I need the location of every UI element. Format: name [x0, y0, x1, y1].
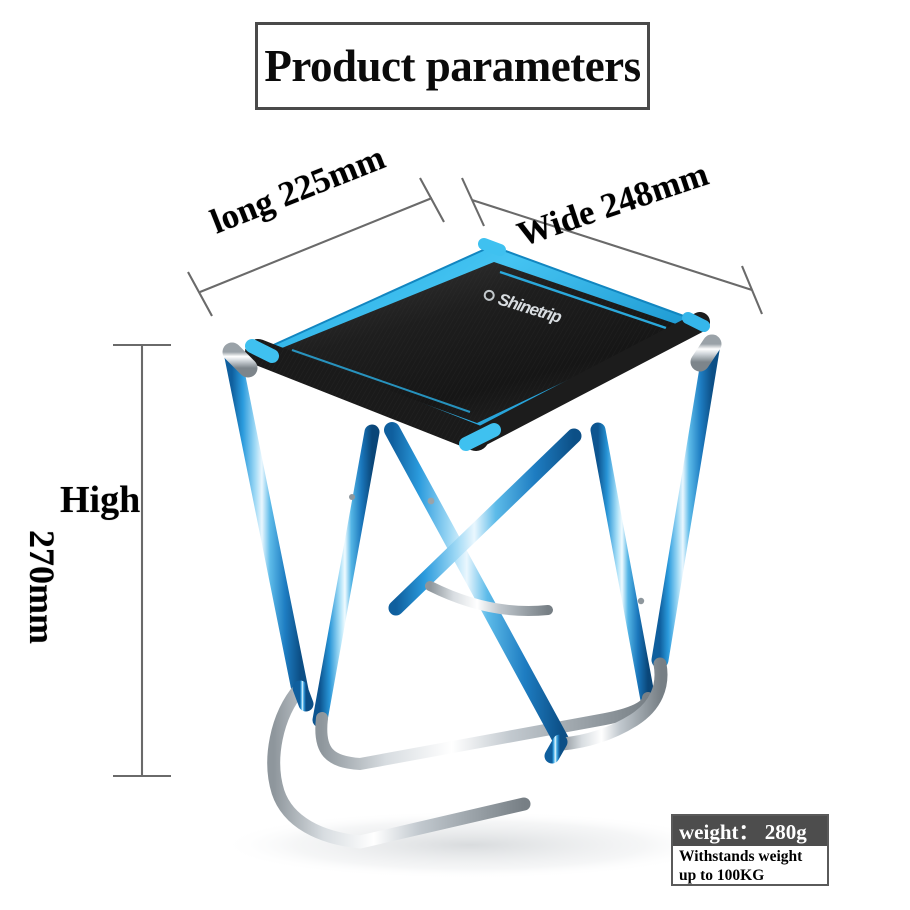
foot-rail-front-right-blue-joint [552, 742, 560, 756]
seat-corner-trim-left [252, 346, 272, 356]
weight-capacity-line2: up to 100KG [679, 867, 827, 886]
seat-corner-trim-back [484, 244, 500, 250]
leg-cap-front-left [232, 352, 248, 368]
leg-cap-front-right [700, 344, 712, 362]
rivet-right [428, 498, 435, 505]
rivet-leg-right [638, 598, 644, 604]
product-spec-image: Product parameters [0, 0, 910, 910]
weight-capacity-line1: Withstands weight [679, 848, 827, 867]
frame-leg-front-left [232, 352, 300, 690]
seat-assembly: Shinetrip [252, 244, 704, 444]
dimension-label-height-value: 270mm [21, 530, 63, 644]
product-illustration: Shinetrip [0, 0, 910, 910]
frame-leg-front-right [660, 344, 712, 660]
frame-leg-back-right [598, 430, 648, 700]
weight-capacity-text: Withstands weight up to 100KG [673, 846, 827, 886]
frame-cross-leg-left [396, 436, 574, 608]
seat-corner-trim-right [688, 318, 704, 326]
seat-weave-texture [277, 262, 682, 423]
weight-header: weight： 280g [673, 816, 827, 846]
weight-info-box: weight： 280g Withstands weight up to 100… [671, 814, 829, 886]
foot-rail-front-left-blue-joint [300, 688, 306, 704]
frame-leg-back-left [320, 432, 372, 720]
dimension-label-high: High [60, 478, 140, 522]
rivet-leg-left [349, 494, 355, 500]
